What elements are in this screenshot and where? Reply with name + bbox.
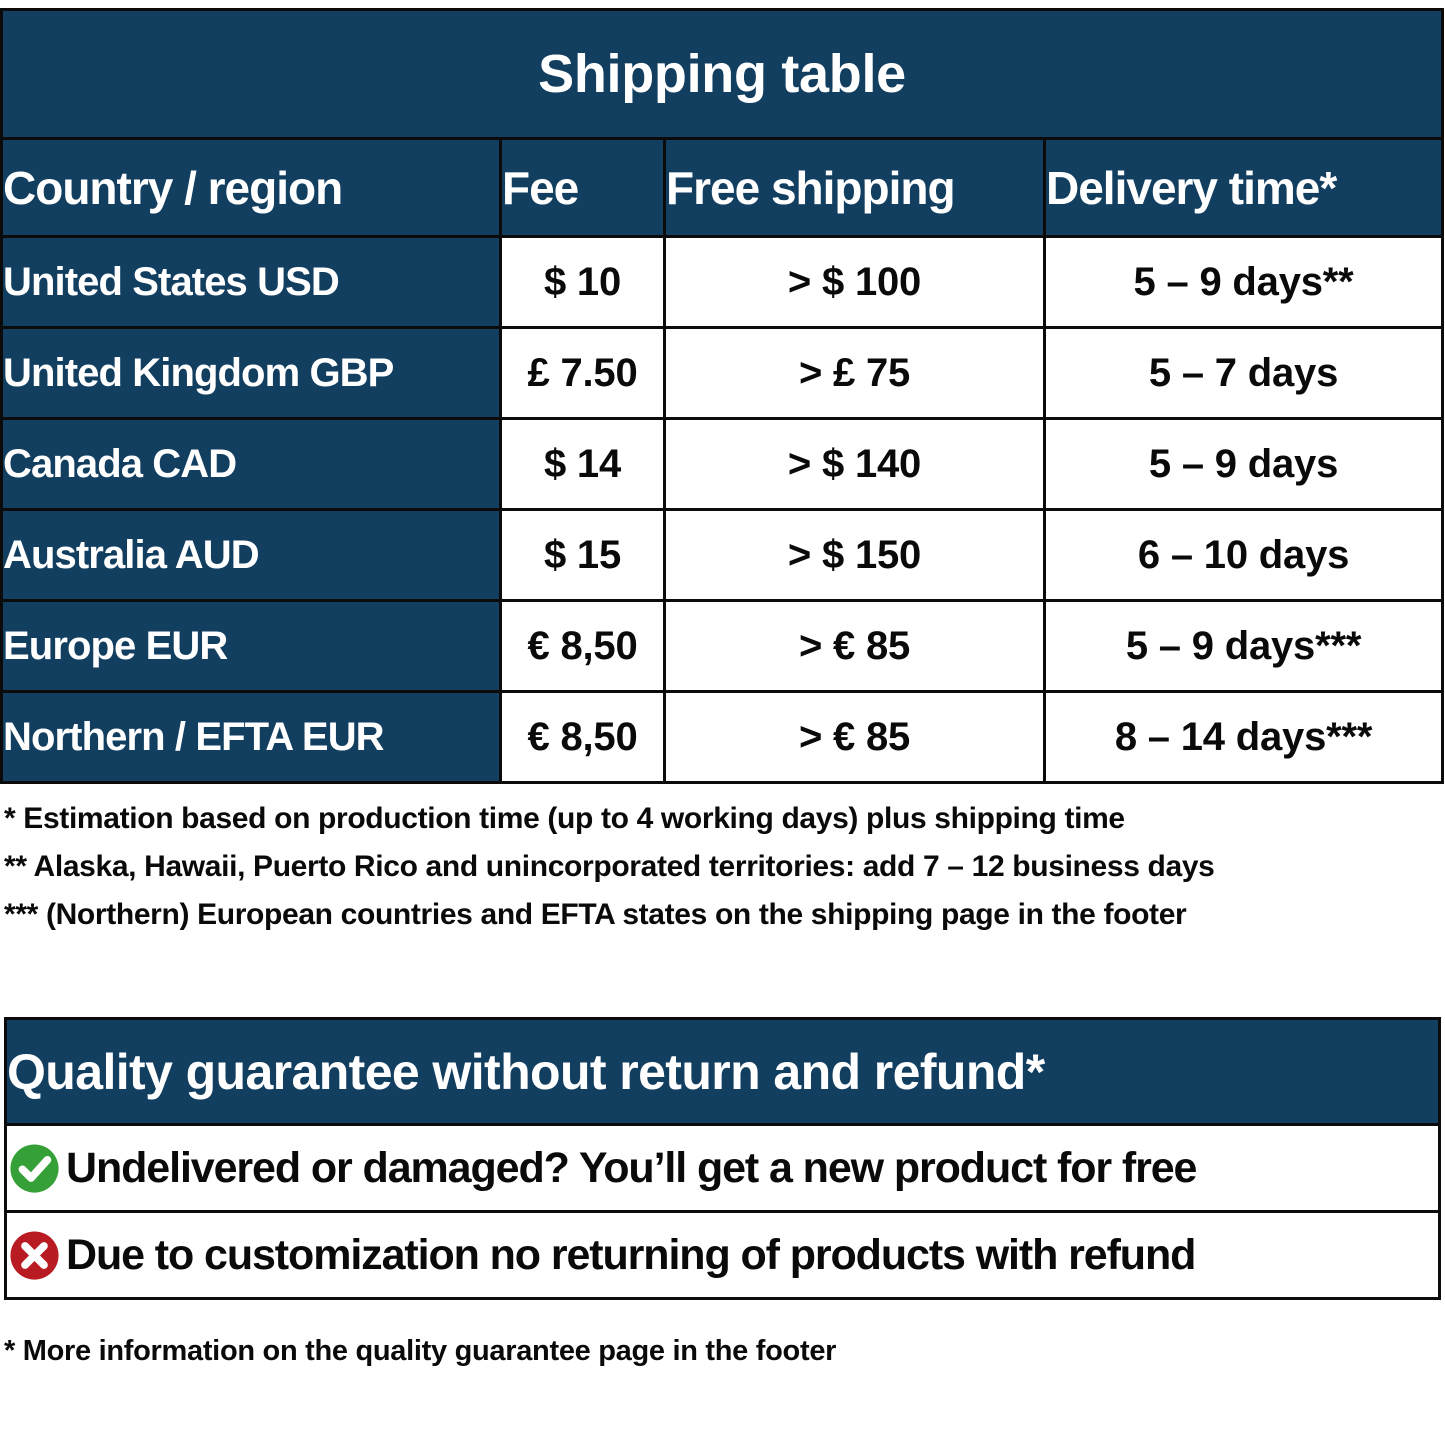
cell-fee: $ 10 bbox=[501, 237, 665, 328]
cross-circle-icon bbox=[7, 1228, 62, 1283]
shipping-footnote-2: ** Alaska, Hawaii, Puerto Rico and uninc… bbox=[4, 843, 1445, 891]
quality-guarantee-title-row: Quality guarantee without return and ref… bbox=[6, 1019, 1440, 1125]
shipping-footnote-1: * Estimation based on production time (u… bbox=[4, 795, 1445, 843]
list-item: Undelivered or damaged? You’ll get a new… bbox=[6, 1125, 1440, 1212]
quality-guarantee-negative-text: Due to customization no returning of pro… bbox=[66, 1231, 1195, 1280]
shipping-table-title-row: Shipping table bbox=[2, 10, 1443, 139]
shipping-table-header-row: Country / region Fee Free shipping Deliv… bbox=[2, 139, 1443, 237]
shipping-footnotes: * Estimation based on production time (u… bbox=[4, 795, 1445, 939]
quality-guarantee-negative-row: Due to customization no returning of pro… bbox=[6, 1212, 1440, 1299]
cell-free-shipping: > £ 75 bbox=[665, 328, 1045, 419]
cell-fee: € 8,50 bbox=[501, 601, 665, 692]
quality-guarantee-table: Quality guarantee without return and ref… bbox=[4, 1017, 1441, 1300]
cell-delivery-time: 6 – 10 days bbox=[1045, 510, 1443, 601]
table-row: Europe EUR € 8,50 > € 85 5 – 9 days*** bbox=[2, 601, 1443, 692]
table-row: Canada CAD $ 14 > $ 140 5 – 9 days bbox=[2, 419, 1443, 510]
shipping-table-title: Shipping table bbox=[2, 10, 1443, 139]
check-circle-icon bbox=[7, 1141, 62, 1196]
column-header-free-shipping: Free shipping bbox=[665, 139, 1045, 237]
cell-country: Canada CAD bbox=[2, 419, 501, 510]
cell-fee: £ 7.50 bbox=[501, 328, 665, 419]
cell-free-shipping: > $ 150 bbox=[665, 510, 1045, 601]
cell-delivery-time: 5 – 7 days bbox=[1045, 328, 1443, 419]
cell-delivery-time: 8 – 14 days*** bbox=[1045, 692, 1443, 783]
column-header-delivery-time: Delivery time* bbox=[1045, 139, 1443, 237]
table-row: Northern / EFTA EUR € 8,50 > € 85 8 – 14… bbox=[2, 692, 1443, 783]
cell-country: United States USD bbox=[2, 237, 501, 328]
quality-guarantee-positive-text: Undelivered or damaged? You’ll get a new… bbox=[66, 1144, 1196, 1193]
cell-fee: $ 14 bbox=[501, 419, 665, 510]
cell-country: United Kingdom GBP bbox=[2, 328, 501, 419]
table-row: United States USD $ 10 > $ 100 5 – 9 day… bbox=[2, 237, 1443, 328]
quality-guarantee-positive-row: Undelivered or damaged? You’ll get a new… bbox=[6, 1125, 1440, 1212]
cell-country: Northern / EFTA EUR bbox=[2, 692, 501, 783]
quality-guarantee-footnote: * More information on the quality guaran… bbox=[4, 1335, 836, 1368]
cell-free-shipping: > € 85 bbox=[665, 601, 1045, 692]
shipping-footnote-3: *** (Northern) European countries and EF… bbox=[4, 891, 1445, 939]
cell-fee: € 8,50 bbox=[501, 692, 665, 783]
shipping-info-graphic: Shipping table Country / region Fee Free… bbox=[0, 0, 1445, 1445]
cell-free-shipping: > $ 140 bbox=[665, 419, 1045, 510]
shipping-table: Shipping table Country / region Fee Free… bbox=[0, 8, 1444, 784]
column-header-fee: Fee bbox=[501, 139, 665, 237]
table-row: Australia AUD $ 15 > $ 150 6 – 10 days bbox=[2, 510, 1443, 601]
cell-country: Europe EUR bbox=[2, 601, 501, 692]
quality-guarantee-title: Quality guarantee without return and ref… bbox=[6, 1019, 1440, 1125]
column-header-country: Country / region bbox=[2, 139, 501, 237]
cell-fee: $ 15 bbox=[501, 510, 665, 601]
list-item: Due to customization no returning of pro… bbox=[6, 1212, 1440, 1299]
cell-country: Australia AUD bbox=[2, 510, 501, 601]
cell-delivery-time: 5 – 9 days bbox=[1045, 419, 1443, 510]
table-row: United Kingdom GBP £ 7.50 > £ 75 5 – 7 d… bbox=[2, 328, 1443, 419]
cell-free-shipping: > € 85 bbox=[665, 692, 1045, 783]
cell-free-shipping: > $ 100 bbox=[665, 237, 1045, 328]
cell-delivery-time: 5 – 9 days** bbox=[1045, 237, 1443, 328]
cell-delivery-time: 5 – 9 days*** bbox=[1045, 601, 1443, 692]
